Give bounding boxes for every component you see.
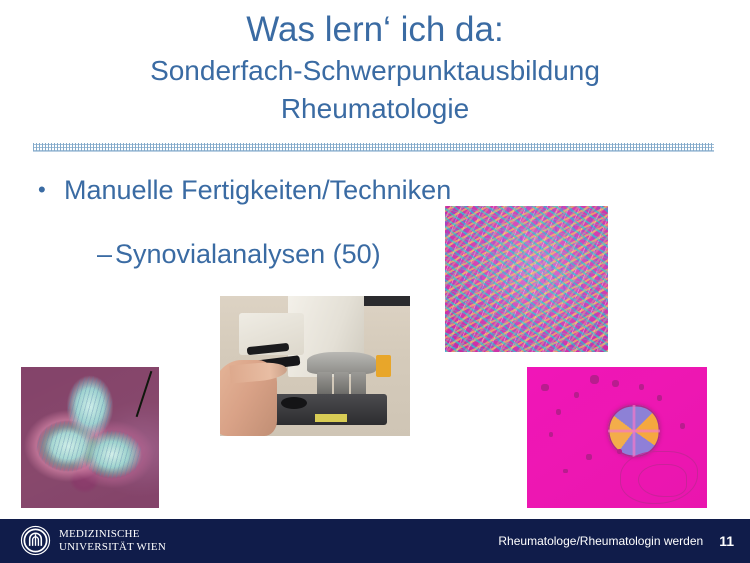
debris-speck [590, 375, 599, 383]
debris-speck [612, 380, 619, 387]
debris-speck [556, 409, 561, 415]
title-line-2: Sonderfach-Schwerpunktausbildung [0, 52, 750, 90]
bullet-text-level1: Manuelle Fertigkeiten/Techniken [64, 173, 451, 207]
debris-speck [563, 469, 568, 473]
debris-speck [680, 423, 685, 429]
slide: Was lern‘ ich da: Sonderfach-Schwerpunkt… [0, 0, 750, 563]
university-logo-line1: MEDIZINISCHE [59, 528, 166, 541]
polarized-crystals-photo [445, 206, 608, 352]
orchid-photo [21, 367, 159, 508]
bullet-item-level1: • Manuelle Fertigkeiten/Techniken [38, 173, 451, 207]
university-logo-text: MEDIZINISCHE UNIVERSITÄT WIEN [59, 528, 166, 553]
meduni-wien-emblem-icon [20, 525, 51, 556]
bullet-text-level2: Synovialanalysen (50) [115, 237, 381, 271]
university-logo-line2: UNIVERSITÄT WIEN [59, 541, 166, 554]
title-line-3: Rheumatologie [0, 90, 750, 128]
page-title: Was lern‘ ich da: Sonderfach-Schwerpunkt… [0, 8, 750, 128]
microscope-yellow-knob [376, 355, 391, 377]
footer-bar: MEDIZINISCHE UNIVERSITÄT WIEN Rheumatolo… [0, 519, 750, 563]
operator-finger [229, 361, 287, 384]
bullet-item-level2: – Synovialanalysen (50) [97, 237, 381, 271]
debris-speck [549, 432, 554, 437]
university-logo: MEDIZINISCHE UNIVERSITÄT WIEN [20, 525, 166, 556]
birefringent-spherulite [608, 405, 660, 457]
debris-speck [639, 384, 644, 390]
decorative-divider-rule [33, 151, 714, 152]
dash-marker-icon: – [97, 237, 115, 271]
debris-speck [574, 392, 579, 398]
debris-speck [657, 395, 662, 401]
microscope-photo [220, 296, 410, 436]
crystal-needle-overlay [445, 206, 608, 352]
debris-speck [586, 454, 591, 460]
debris-speck [541, 384, 548, 391]
title-line-1: Was lern‘ ich da: [0, 8, 750, 52]
decorative-divider [33, 143, 714, 151]
footer-caption: Rheumatologe/Rheumatologin werden [498, 534, 703, 548]
footer-right-group: Rheumatologe/Rheumatologin werden 11 [498, 519, 734, 563]
slide-number: 11 [719, 533, 734, 549]
bullet-marker-icon: • [38, 173, 64, 207]
maltese-cross-cell-photo [527, 367, 707, 508]
cell-outline-squiggle-inner [638, 464, 687, 497]
orchid-petal-veins [21, 367, 159, 508]
microscope-yellow-label [315, 414, 347, 422]
